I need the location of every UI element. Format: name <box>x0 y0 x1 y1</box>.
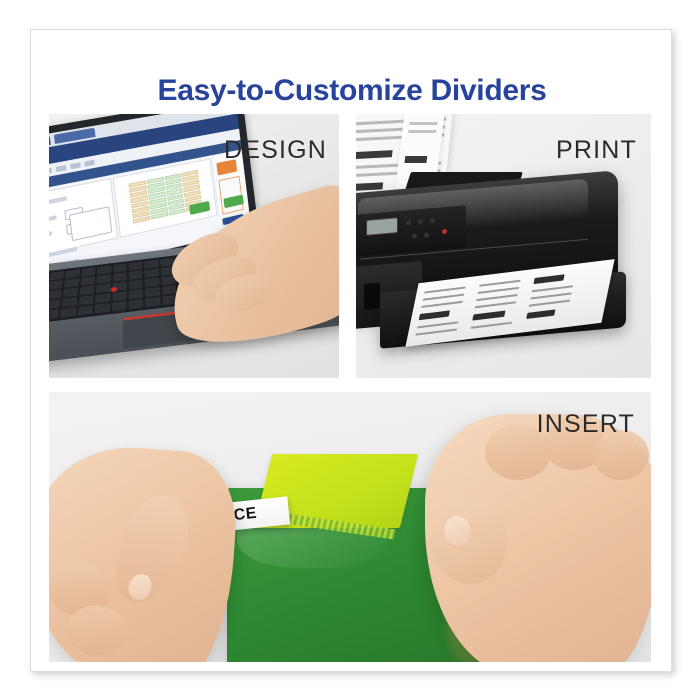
form-label <box>49 196 67 209</box>
printer-button[interactable] <box>406 220 411 225</box>
panel-design[interactable]: DESIGN <box>49 114 339 378</box>
panel-print[interactable]: PRINT <box>356 114 651 378</box>
printer-lcd-display <box>366 217 398 236</box>
right-hand <box>425 414 651 662</box>
printer-power-button[interactable] <box>442 229 447 234</box>
label-template-grid <box>128 170 202 224</box>
printer-button[interactable] <box>424 232 429 237</box>
printer-button[interactable] <box>412 233 417 238</box>
thumbnail <box>125 571 155 603</box>
panel-insert[interactable]: FINANCE INSERT <box>49 392 651 662</box>
design-form-panel <box>49 178 118 261</box>
printer-button[interactable] <box>430 218 435 223</box>
printer-memory-slot[interactable] <box>364 283 380 310</box>
panel-tag-design: DESIGN <box>224 136 327 165</box>
product-feature-graphic: Easy-to-Customize Dividers <box>0 0 700 700</box>
left-hand <box>49 441 241 662</box>
panel-tag-print: PRINT <box>556 136 637 165</box>
form-label <box>49 215 57 226</box>
content-card: Easy-to-Customize Dividers <box>30 29 672 672</box>
panel-tag-insert: INSERT <box>537 410 635 439</box>
thumbnail <box>442 514 474 549</box>
page-title: Easy-to-Customize Dividers <box>31 74 673 108</box>
knuckle <box>65 604 128 658</box>
printer-button[interactable] <box>418 219 423 224</box>
left-thumb <box>101 486 200 613</box>
right-thumb <box>421 491 515 591</box>
form-label <box>49 231 52 241</box>
